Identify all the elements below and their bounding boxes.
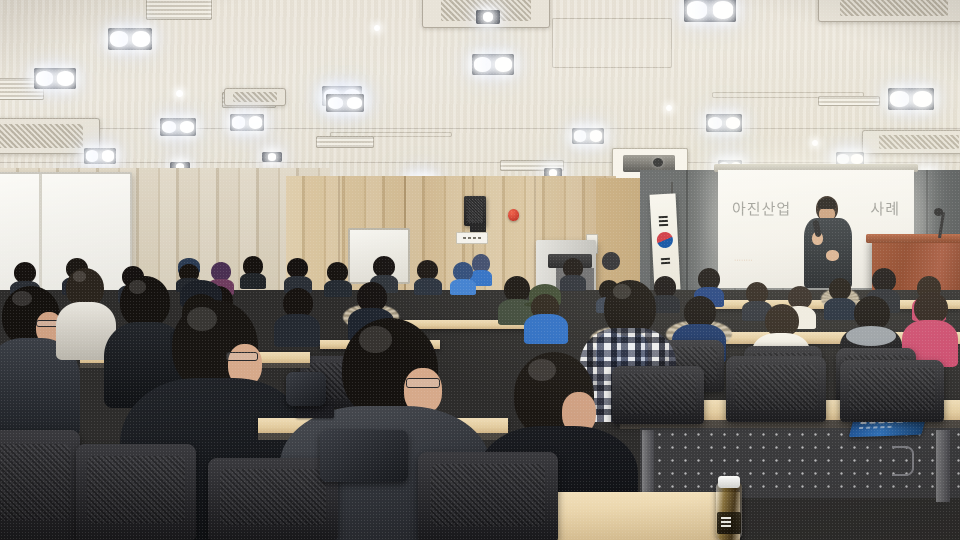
- chair[interactable]: [418, 452, 558, 540]
- podium-microphone-head-icon: [934, 208, 943, 216]
- seminar-room-photograph: 아진산업 사례 ········ ····: [0, 0, 960, 540]
- bottle-label: [717, 512, 741, 534]
- attendee-head: [342, 318, 438, 420]
- attendee: [284, 258, 312, 292]
- slide-footer-left: ········: [734, 257, 753, 264]
- fire-alarm-bell-icon: [508, 209, 519, 221]
- attendee: [600, 252, 622, 278]
- ceiling-downlight: [572, 128, 604, 144]
- ceiling-downlight: [230, 114, 264, 131]
- attendee: [524, 286, 568, 342]
- ceiling-downlight: [476, 10, 500, 24]
- attendee: [450, 262, 476, 294]
- ac-cassette-unit: [862, 130, 960, 154]
- ceiling-spot-light: [666, 105, 672, 111]
- ceiling-air-vent: [146, 0, 212, 20]
- ceiling-downlight: [326, 94, 364, 112]
- ceiling-downlight: [472, 54, 514, 75]
- eyeglasses: [406, 378, 440, 388]
- ceiling-downlight: [34, 68, 76, 89]
- chair[interactable]: [840, 360, 944, 422]
- desk-hook: [892, 446, 914, 476]
- presenter-hand: [826, 250, 839, 261]
- wall-speaker: [464, 196, 486, 226]
- ceiling-downlight: [84, 148, 116, 164]
- ceiling-downlight: [108, 28, 152, 50]
- bag: [286, 372, 326, 406]
- room-sign-plate: [456, 232, 488, 244]
- ceiling-spot-light: [374, 25, 380, 31]
- ceiling-downlight: [160, 118, 196, 136]
- ceiling-air-vent: [316, 136, 374, 148]
- ceiling-air-vent: [818, 96, 880, 106]
- chair[interactable]: [208, 458, 338, 540]
- attendee-head: [2, 286, 60, 346]
- eyeglasses: [226, 352, 258, 361]
- ceiling-spot-light: [176, 90, 183, 97]
- bottle-cap[interactable]: [718, 476, 740, 488]
- slide-title-left: 아진산업: [732, 198, 791, 219]
- attendee: [414, 260, 442, 294]
- podium-top-surface: [866, 234, 960, 243]
- chair[interactable]: [76, 444, 196, 540]
- taeguk-symbol-icon: [656, 232, 673, 249]
- ceiling-downlight: [262, 152, 282, 162]
- desk-leg: [642, 430, 654, 498]
- chair[interactable]: [726, 356, 826, 422]
- bag: [320, 430, 408, 482]
- ceiling-downlight: [684, 0, 736, 22]
- desk-leg: [936, 430, 950, 502]
- chair[interactable]: [0, 430, 80, 540]
- presenter: [800, 196, 856, 288]
- attendee: [240, 256, 266, 288]
- ceiling-downlight: [706, 114, 742, 132]
- ac-cassette-unit: [224, 88, 286, 106]
- slide-title-right: 사례: [870, 198, 900, 219]
- ac-cassette-unit: [818, 0, 960, 22]
- drink-bottle[interactable]: [716, 482, 742, 540]
- smartphone[interactable]: [296, 406, 334, 418]
- ceiling-spot-light: [812, 140, 818, 146]
- ceiling-downlight: [888, 88, 934, 110]
- chair[interactable]: [612, 366, 704, 424]
- projector-lens-icon: [653, 158, 663, 167]
